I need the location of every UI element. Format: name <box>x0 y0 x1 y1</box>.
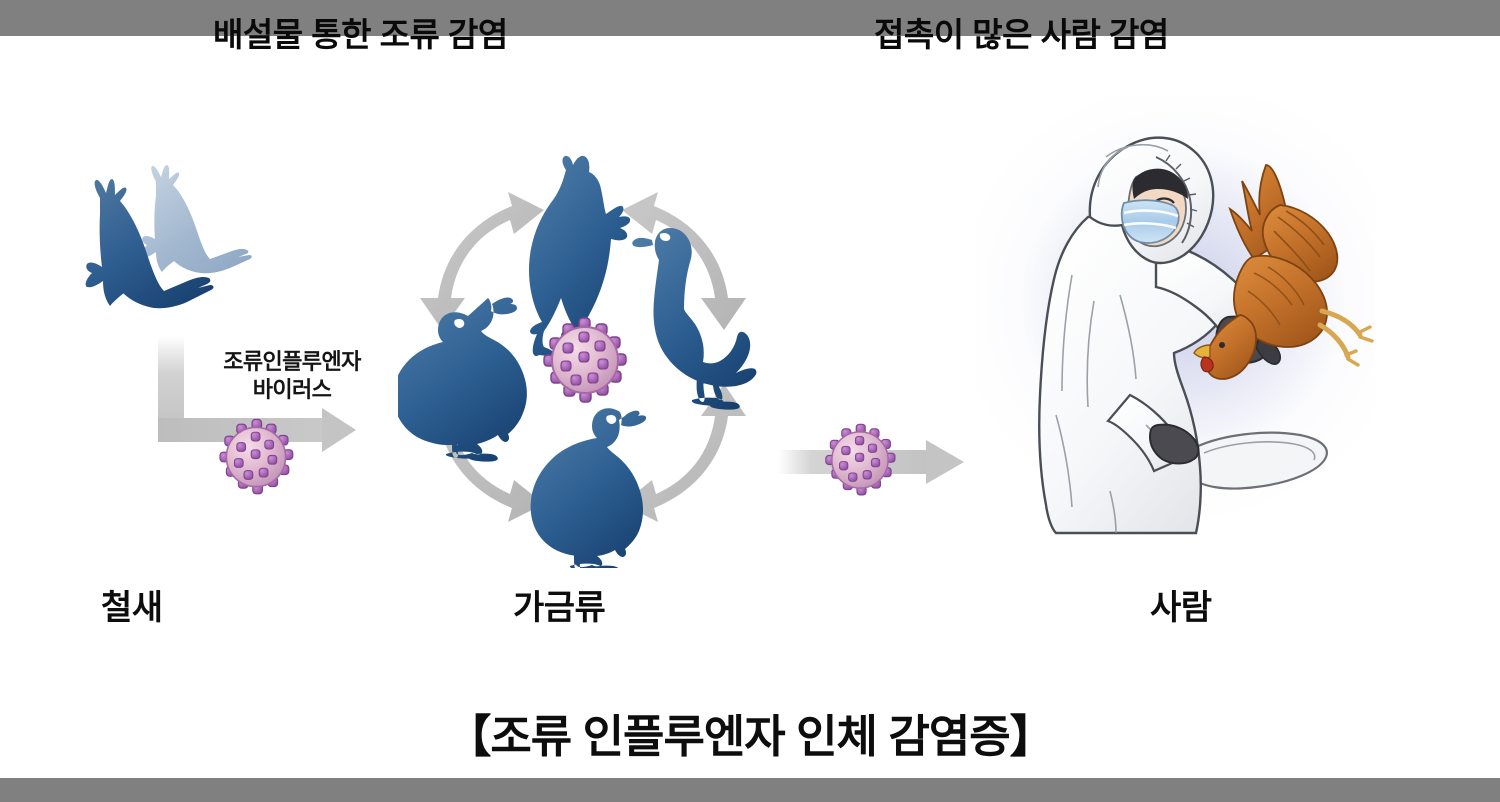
virus-label-line2: 바이러스 <box>196 376 388 404</box>
bottom-gray-band <box>0 778 1500 802</box>
infographic-canvas: 배설물 통한 조류 감염 접촉이 많은 사람 감염 <box>0 0 1500 802</box>
poultry-cycle-icon <box>398 148 768 568</box>
virus-label: 조류인플루엔자 바이러스 <box>196 348 388 404</box>
heading-contact-transmission: 접촉이 많은 사람 감염 <box>874 8 1169 56</box>
pigeon-silhouette <box>531 408 647 568</box>
collection-bag-shape <box>1189 433 1327 489</box>
heading-fecal-transmission: 배설물 통한 조류 감염 <box>213 8 508 56</box>
virus-particle-center <box>544 318 626 402</box>
label-human: 사람 <box>1150 580 1212 629</box>
ppe-worker-with-chicken-icon <box>960 95 1380 535</box>
virus-label-line1: 조류인플루엔자 <box>196 348 388 376</box>
virus-particle-poultry-to-human <box>822 422 898 498</box>
page-title: 【조류 인플루엔자 인체 감염증】 <box>0 700 1500 765</box>
virus-particle-wild-to-poultry <box>216 417 296 497</box>
goose-light-shape <box>142 165 252 273</box>
label-wild-birds: 철새 <box>101 580 163 629</box>
duck-silhouette <box>632 228 756 410</box>
flying-geese-icon <box>70 158 300 343</box>
label-poultry: 가금류 <box>513 580 605 629</box>
quail-silhouette <box>398 298 527 462</box>
